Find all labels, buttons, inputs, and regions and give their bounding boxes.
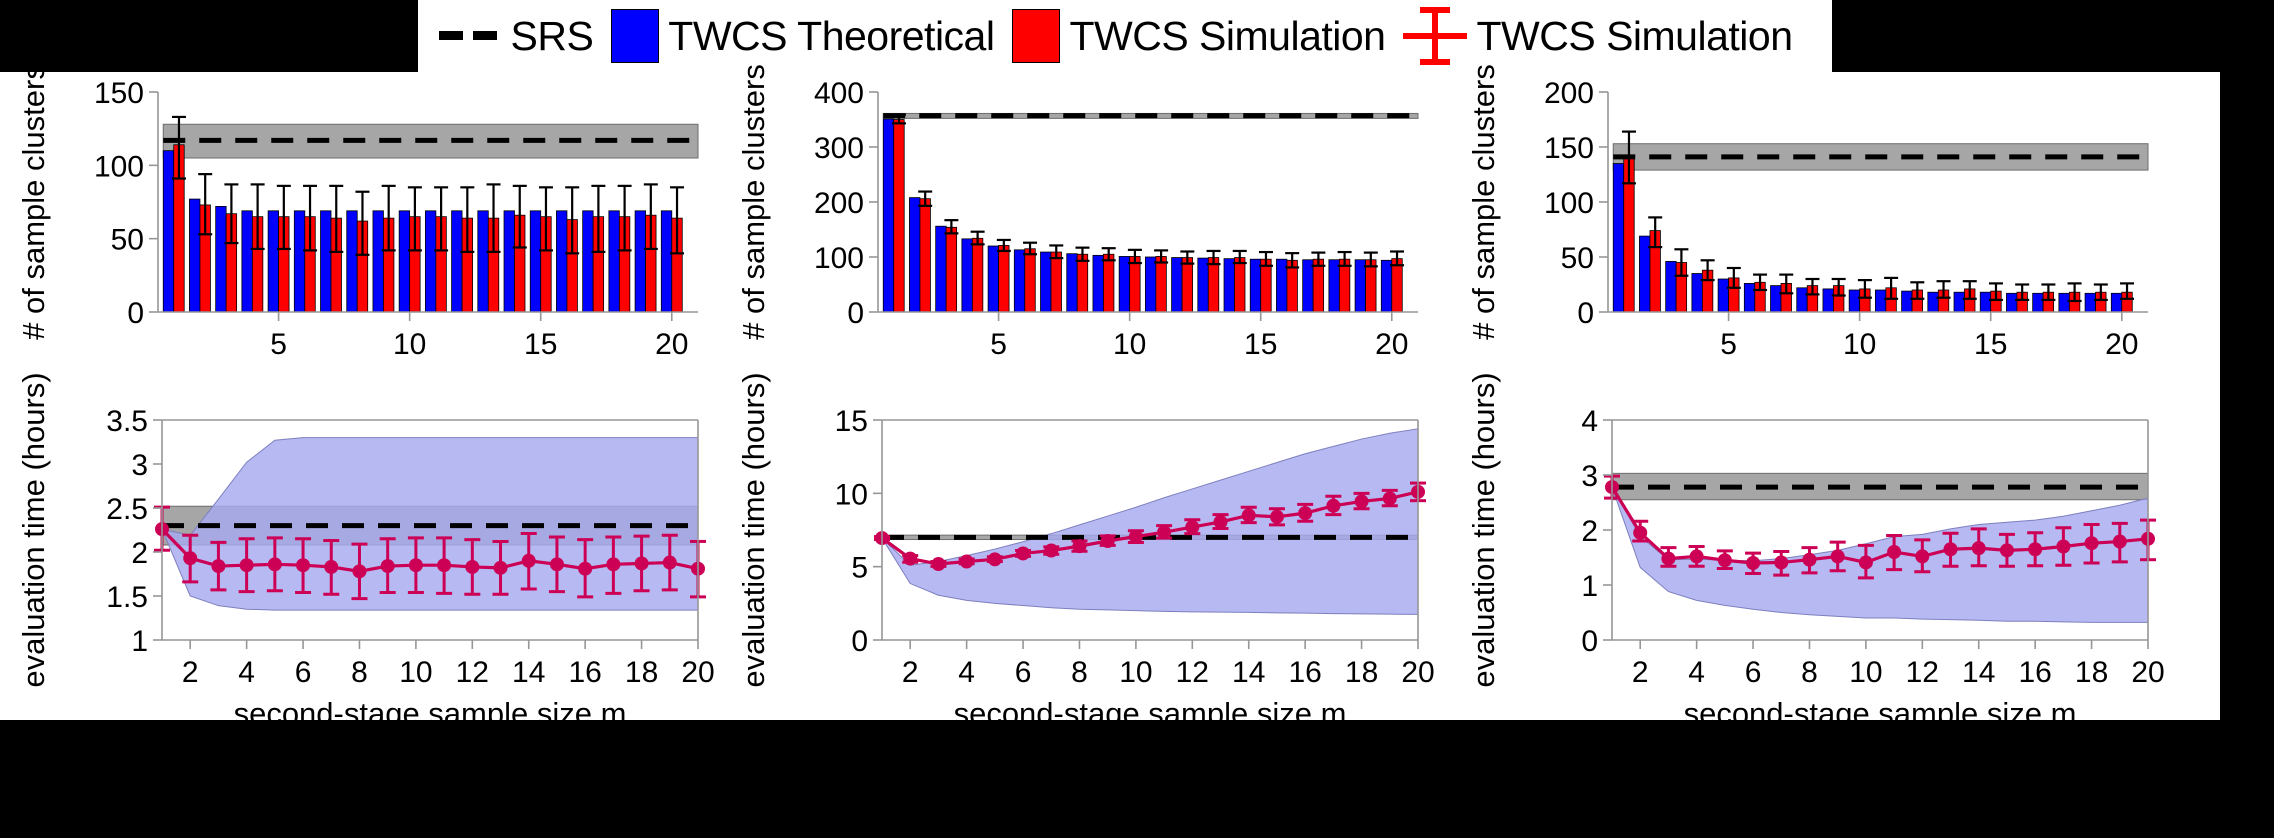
blue-square-icon	[611, 9, 659, 63]
x-tick-label: 10	[1849, 656, 1882, 689]
data-point	[324, 560, 338, 574]
bar-simulation	[1235, 258, 1245, 312]
data-point	[2000, 543, 2014, 557]
twcs-theoretical-band	[882, 429, 1418, 615]
data-point	[211, 559, 225, 573]
x-tick-label: 10	[393, 328, 426, 361]
x-axis-title: second-stage sample size m	[1684, 696, 2077, 731]
y-tick-label: 150	[1544, 132, 1594, 165]
data-point	[550, 557, 564, 571]
data-point	[578, 562, 592, 576]
x-tick-label: 15	[1974, 328, 2007, 361]
data-point	[988, 552, 1002, 566]
legend-entry-srs: SRS	[439, 13, 593, 60]
data-point	[1831, 549, 1845, 563]
data-point	[1270, 510, 1284, 524]
bar-simulation	[972, 238, 982, 312]
data-point	[1774, 555, 1788, 569]
bar-theoretical	[1145, 257, 1155, 312]
bar-theoretical	[216, 206, 226, 312]
y-tick-label: 1	[131, 625, 148, 658]
bar-theoretical	[1771, 286, 1781, 312]
data-point	[663, 556, 677, 570]
bar-theoretical	[2085, 293, 2095, 312]
y-tick-label: 100	[814, 242, 864, 275]
x-tick-label: 5	[1720, 328, 1737, 361]
panel-bottom-middle: 0510152468101214161820evaluation time (h…	[730, 400, 1430, 730]
bar-theoretical	[2033, 293, 2043, 312]
bar-theoretical	[1980, 292, 1990, 312]
bar-simulation	[894, 120, 904, 313]
bar-simulation	[1182, 258, 1192, 312]
data-point	[437, 558, 451, 572]
x-tick-label: 8	[1071, 656, 1088, 689]
x-tick-label: 2	[182, 656, 199, 689]
y-tick-label: 5	[851, 552, 868, 585]
data-point	[1129, 530, 1143, 544]
x-tick-label: 20	[2131, 656, 2164, 689]
bar-theoretical	[883, 119, 893, 312]
bar-theoretical	[1041, 252, 1051, 312]
data-point	[296, 558, 310, 572]
bar-theoretical	[242, 211, 252, 312]
chart-panel-top-right: 0501001502005101520# of sample clusters	[1460, 76, 2160, 376]
bar-theoretical	[321, 211, 331, 312]
data-point	[1326, 499, 1340, 513]
y-tick-label: 200	[814, 187, 864, 220]
bar-theoretical	[478, 211, 488, 312]
bar-simulation	[1103, 254, 1113, 312]
panel-top-left: 0501001505101520# of sample clusters	[10, 76, 710, 376]
bar-simulation	[1051, 252, 1061, 312]
data-point	[1185, 520, 1199, 534]
y-tick-label: 0	[1581, 625, 1598, 658]
chart-panel-bottom-right: 012342468101214161820evaluation time (ho…	[1460, 400, 2160, 730]
bar-theoretical	[1198, 258, 1208, 312]
data-point	[1044, 544, 1058, 558]
bar-theoretical	[1329, 260, 1339, 312]
bar-theoretical	[1928, 292, 1938, 312]
bar-theoretical	[909, 198, 919, 312]
data-point	[381, 559, 395, 573]
y-tick-label: 1	[1581, 570, 1598, 603]
y-tick-label: 0	[127, 297, 144, 330]
y-tick-label: 100	[1544, 187, 1594, 220]
y-tick-label: 3	[1581, 460, 1598, 493]
bar-theoretical	[2111, 293, 2121, 312]
figure-legend: SRS TWCS Theoretical TWCS Simulation TWC…	[418, 0, 1832, 72]
legend-label-twcs-simulation-bar: TWCS Simulation	[1069, 13, 1385, 60]
bar-theoretical	[399, 211, 409, 312]
y-tick-label: 15	[835, 405, 868, 438]
data-point	[903, 552, 917, 566]
y-axis-title: evaluation time (hours)	[16, 372, 51, 687]
bar-simulation	[946, 227, 956, 312]
x-tick-label: 12	[456, 656, 489, 689]
x-tick-label: 20	[1401, 656, 1434, 689]
bar-theoretical	[988, 246, 998, 312]
data-point	[522, 554, 536, 568]
bar-theoretical	[556, 211, 566, 312]
x-tick-label: 6	[1015, 656, 1032, 689]
x-axis-title: second-stage sample size m	[954, 696, 1347, 731]
chart-panel-top-left: 0501001505101520# of sample clusters	[10, 76, 710, 376]
x-tick-label: 2	[1632, 656, 1649, 689]
bar-theoretical	[1875, 290, 1885, 312]
y-tick-label: 2	[131, 537, 148, 570]
data-point	[635, 556, 649, 570]
y-tick-label: 100	[94, 150, 144, 183]
data-point	[1972, 541, 1986, 555]
bar-theoretical	[347, 211, 357, 312]
x-tick-label: 6	[1745, 656, 1762, 689]
data-point	[1383, 491, 1397, 505]
y-tick-label: 3.5	[106, 405, 148, 438]
x-tick-label: 6	[295, 656, 312, 689]
data-point	[1802, 553, 1816, 567]
bar-theoretical	[1381, 260, 1391, 312]
data-point	[409, 558, 423, 572]
y-tick-label: 1.5	[106, 581, 148, 614]
bar-theoretical	[294, 211, 304, 312]
x-tick-label: 12	[1906, 656, 1939, 689]
bar-theoretical	[1744, 283, 1754, 312]
x-tick-label: 5	[270, 328, 287, 361]
figure-root: SRS TWCS Theoretical TWCS Simulation TWC…	[0, 0, 2274, 838]
bar-simulation	[1208, 258, 1218, 312]
data-point	[1944, 542, 1958, 556]
bar-theoretical	[1666, 261, 1676, 312]
x-tick-label: 18	[1345, 656, 1378, 689]
legend-entry-twcs-simulation-bar: TWCS Simulation	[1012, 9, 1385, 63]
bar-theoretical	[1172, 258, 1182, 312]
bar-simulation	[1261, 259, 1271, 312]
bar-simulation	[1077, 254, 1087, 312]
chart-panel-bottom-middle: 0510152468101214161820evaluation time (h…	[730, 400, 1430, 730]
data-point	[2113, 535, 2127, 549]
data-point	[183, 551, 197, 565]
bar-theoretical	[1849, 290, 1859, 312]
x-tick-label: 20	[1375, 328, 1408, 361]
dashed-line-icon	[439, 31, 501, 41]
red-square-icon	[1012, 9, 1060, 63]
data-point	[1214, 515, 1228, 529]
x-tick-label: 18	[2075, 656, 2108, 689]
x-tick-label: 4	[238, 656, 255, 689]
panel-top-right: 0501001502005101520# of sample clusters	[1460, 76, 2160, 376]
bar-theoretical	[1067, 254, 1077, 312]
data-point	[1887, 545, 1901, 559]
x-tick-label: 20	[2105, 328, 2138, 361]
y-tick-label: 0	[847, 297, 864, 330]
x-tick-label: 18	[625, 656, 658, 689]
x-tick-label: 4	[958, 656, 975, 689]
x-tick-label: 20	[681, 656, 714, 689]
data-point	[2056, 540, 2070, 554]
bar-theoretical	[1250, 259, 1260, 312]
x-tick-label: 20	[655, 328, 688, 361]
bar-theoretical	[1902, 291, 1912, 312]
x-tick-label: 15	[524, 328, 557, 361]
bar-simulation	[1130, 256, 1140, 312]
x-tick-label: 16	[568, 656, 601, 689]
bar-theoretical	[1355, 260, 1365, 312]
data-point	[2085, 536, 2099, 550]
x-tick-label: 12	[1176, 656, 1209, 689]
y-tick-label: 2	[1581, 515, 1598, 548]
bar-theoretical	[1954, 292, 1964, 312]
x-tick-label: 14	[512, 656, 545, 689]
bar-simulation	[1313, 259, 1323, 312]
bar-theoretical	[163, 151, 173, 312]
bar-theoretical	[452, 211, 462, 312]
data-point	[1298, 506, 1312, 520]
x-tick-label: 5	[990, 328, 1007, 361]
x-tick-label: 14	[1232, 656, 1265, 689]
x-tick-label: 16	[1288, 656, 1321, 689]
y-tick-label: 3	[131, 449, 148, 482]
legend-label-twcs-theoretical: TWCS Theoretical	[668, 13, 994, 60]
data-point	[1101, 534, 1115, 548]
bar-theoretical	[1224, 259, 1234, 312]
data-point	[1242, 508, 1256, 522]
bar-theoretical	[2059, 293, 2069, 312]
bar-simulation	[1156, 256, 1166, 312]
x-tick-label: 14	[1962, 656, 1995, 689]
bar-simulation	[1392, 259, 1402, 312]
data-point	[1157, 525, 1171, 539]
bar-theoretical	[2006, 293, 2016, 312]
data-point	[352, 564, 366, 578]
data-point	[1661, 552, 1675, 566]
bar-theoretical	[1797, 288, 1807, 312]
chart-panel-top-middle: 01002003004005101520# of sample clusters	[730, 76, 1430, 376]
errorbar-icon	[1403, 7, 1467, 65]
bar-theoretical	[962, 239, 972, 312]
data-point	[494, 561, 508, 575]
bar-theoretical	[189, 199, 199, 312]
bar-theoretical	[635, 211, 645, 312]
y-tick-label: 150	[94, 77, 144, 110]
y-tick-label: 2.5	[106, 493, 148, 526]
bar-theoretical	[373, 211, 383, 312]
data-point	[268, 557, 282, 571]
bar-simulation	[999, 245, 1009, 312]
y-tick-label: 50	[111, 224, 144, 257]
bar-theoretical	[1613, 164, 1623, 313]
data-point	[465, 560, 479, 574]
y-tick-label: 400	[814, 77, 864, 110]
y-tick-label: 50	[1561, 242, 1594, 275]
x-tick-label: 4	[1688, 656, 1705, 689]
panel-bottom-right: 012342468101214161820evaluation time (ho…	[1460, 400, 2160, 730]
data-point	[1016, 546, 1030, 560]
data-point	[1718, 553, 1732, 567]
data-point	[1072, 539, 1086, 553]
panel-bottom-left: 11.522.533.52468101214161820evaluation t…	[10, 400, 710, 730]
bar-simulation	[1366, 260, 1376, 312]
bar-theoretical	[936, 226, 946, 312]
bar-theoretical	[1093, 255, 1103, 312]
bar-simulation	[1339, 259, 1349, 312]
panel-top-middle: 01002003004005101520# of sample clusters	[730, 76, 1430, 376]
data-point	[960, 555, 974, 569]
y-axis-title: evaluation time (hours)	[1466, 372, 1501, 687]
x-tick-label: 2	[902, 656, 919, 689]
chart-panel-bottom-left: 11.522.533.52468101214161820evaluation t…	[10, 400, 710, 730]
y-tick-label: 4	[1581, 405, 1598, 438]
data-point	[1355, 494, 1369, 508]
bar-theoretical	[1119, 256, 1129, 312]
y-tick-label: 200	[1544, 77, 1594, 110]
x-tick-label: 8	[351, 656, 368, 689]
x-tick-label: 10	[399, 656, 432, 689]
data-point	[931, 557, 945, 571]
x-tick-label: 10	[1113, 328, 1146, 361]
bar-theoretical	[609, 211, 619, 312]
x-tick-label: 8	[1801, 656, 1818, 689]
bar-theoretical	[504, 211, 514, 312]
y-axis-title: # of sample clusters	[736, 64, 771, 340]
y-axis-title: # of sample clusters	[16, 64, 51, 340]
x-tick-label: 15	[1244, 328, 1277, 361]
legend-entry-twcs-theoretical: TWCS Theoretical	[611, 9, 994, 63]
y-tick-label: 10	[835, 478, 868, 511]
y-tick-label: 0	[851, 625, 868, 658]
y-axis-title: evaluation time (hours)	[736, 372, 771, 687]
data-point	[1690, 549, 1704, 563]
x-tick-label: 10	[1843, 328, 1876, 361]
x-tick-label: 10	[1119, 656, 1152, 689]
bar-theoretical	[530, 211, 540, 312]
bar-theoretical	[1823, 289, 1833, 312]
data-point	[1859, 555, 1873, 569]
bar-theoretical	[1718, 279, 1728, 312]
bar-theoretical	[268, 211, 278, 312]
data-point	[2028, 542, 2042, 556]
legend-label-srs: SRS	[510, 13, 593, 60]
y-tick-label: 300	[814, 132, 864, 165]
data-point	[1746, 556, 1760, 570]
data-point	[606, 557, 620, 571]
x-tick-label: 16	[2018, 656, 2051, 689]
bar-theoretical	[1303, 260, 1313, 312]
y-tick-label: 0	[1577, 297, 1594, 330]
legend-entry-twcs-simulation-errorbar: TWCS Simulation	[1403, 7, 1792, 65]
bar-simulation	[1025, 249, 1035, 312]
bar-theoretical	[425, 211, 435, 312]
data-point	[1915, 549, 1929, 563]
y-axis-title: # of sample clusters	[1466, 64, 1501, 340]
data-point	[240, 558, 254, 572]
x-axis-title: second-stage sample size m	[234, 696, 627, 731]
bar-theoretical	[1014, 250, 1024, 312]
data-point	[1633, 526, 1647, 540]
bar-simulation	[920, 199, 930, 312]
bar-theoretical	[583, 211, 593, 312]
legend-label-twcs-simulation-errorbar: TWCS Simulation	[1476, 13, 1792, 60]
bar-theoretical	[661, 211, 671, 312]
